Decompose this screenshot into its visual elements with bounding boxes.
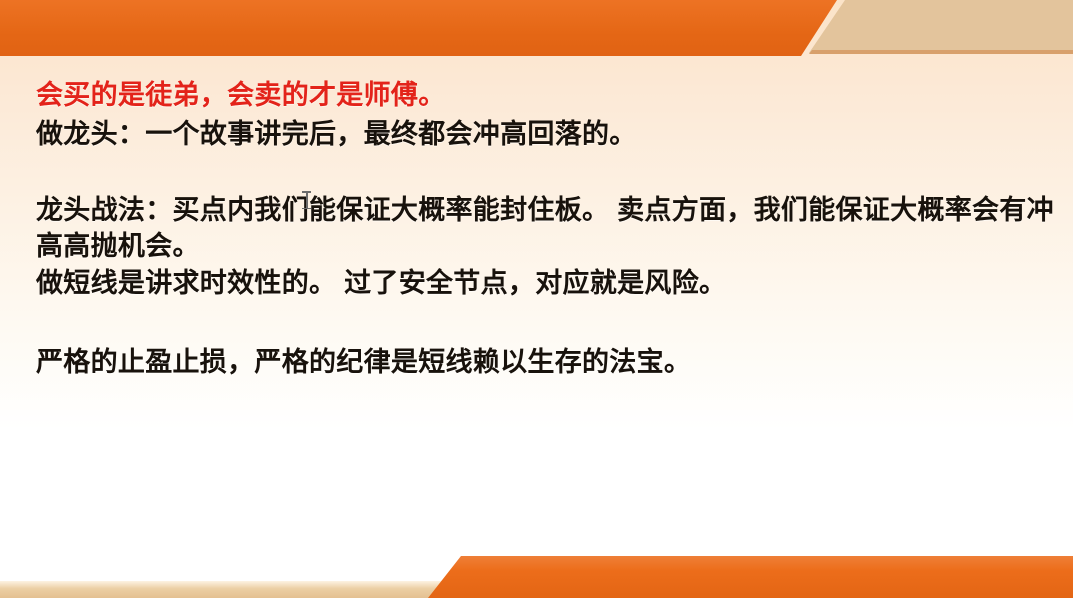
slide-line-2: 做龙头：一个故事讲完后，最终都会冲高回落的。: [36, 115, 1066, 154]
slide-line-1: 会买的是徒弟，会卖的才是师傅。: [36, 76, 1066, 115]
paragraph-spacer-1: [36, 154, 1066, 192]
slide-text-block: 会买的是徒弟，会卖的才是师傅。 做龙头：一个故事讲完后，最终都会冲高回落的。 龙…: [36, 76, 1066, 382]
slide-line-3: 龙头战法：买点内我们能保证大概率能封住板。 卖点方面，我们能保证大概率会有冲高高…: [36, 192, 1066, 264]
slide-line-5: 严格的止盈止损，严格的纪律是短线赖以生存的法宝。: [36, 343, 1066, 382]
paragraph-spacer-2: [36, 303, 1066, 343]
presentation-slide: 会买的是徒弟，会卖的才是师傅。 做龙头：一个故事讲完后，最终都会冲高回落的。 龙…: [0, 0, 1073, 598]
slide-line-4: 做短线是讲求时效性的。 过了安全节点，对应就是风险。: [36, 264, 1066, 303]
